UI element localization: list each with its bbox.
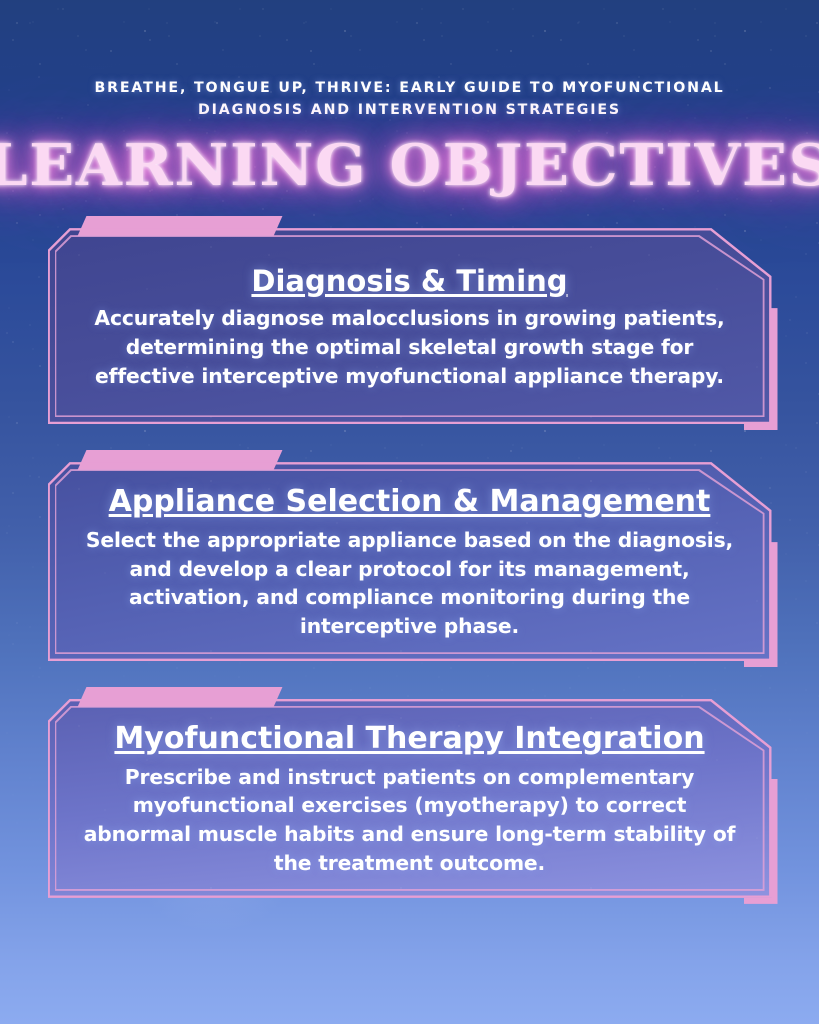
objective-description: Accurately diagnose malocclusions in gro…	[82, 304, 738, 390]
objective-description: Prescribe and instruct patients on compl…	[82, 763, 738, 878]
objective-card-body: Appliance Selection & Management Select …	[48, 462, 772, 661]
card-top-tab	[77, 687, 282, 707]
presentation-subtitle: BREATHE, TONGUE UP, THRIVE: EARLY GUIDE …	[60, 78, 760, 121]
objective-title: Appliance Selection & Management	[82, 484, 738, 521]
objective-card-2: Appliance Selection & Management Select …	[48, 462, 772, 661]
objective-description: Select the appropriate appliance based o…	[82, 526, 738, 641]
objective-title: Diagnosis & Timing	[82, 264, 738, 299]
page-title: LEARNING OBJECTIVES	[0, 137, 819, 194]
card-top-tab	[77, 216, 282, 236]
poster-canvas: BREATHE, TONGUE UP, THRIVE: EARLY GUIDE …	[0, 0, 819, 1024]
objective-card-3: Myofunctional Therapy Integration Prescr…	[48, 699, 772, 898]
objective-card-1: Diagnosis & Timing Accurately diagnose m…	[48, 228, 772, 424]
card-top-tab	[77, 450, 282, 470]
objective-card-body: Diagnosis & Timing Accurately diagnose m…	[48, 228, 772, 424]
objective-title: Myofunctional Therapy Integration	[82, 721, 738, 758]
poster-header: BREATHE, TONGUE UP, THRIVE: EARLY GUIDE …	[0, 0, 819, 194]
objective-card-body: Myofunctional Therapy Integration Prescr…	[48, 699, 772, 898]
objectives-list: Diagnosis & Timing Accurately diagnose m…	[0, 228, 819, 898]
